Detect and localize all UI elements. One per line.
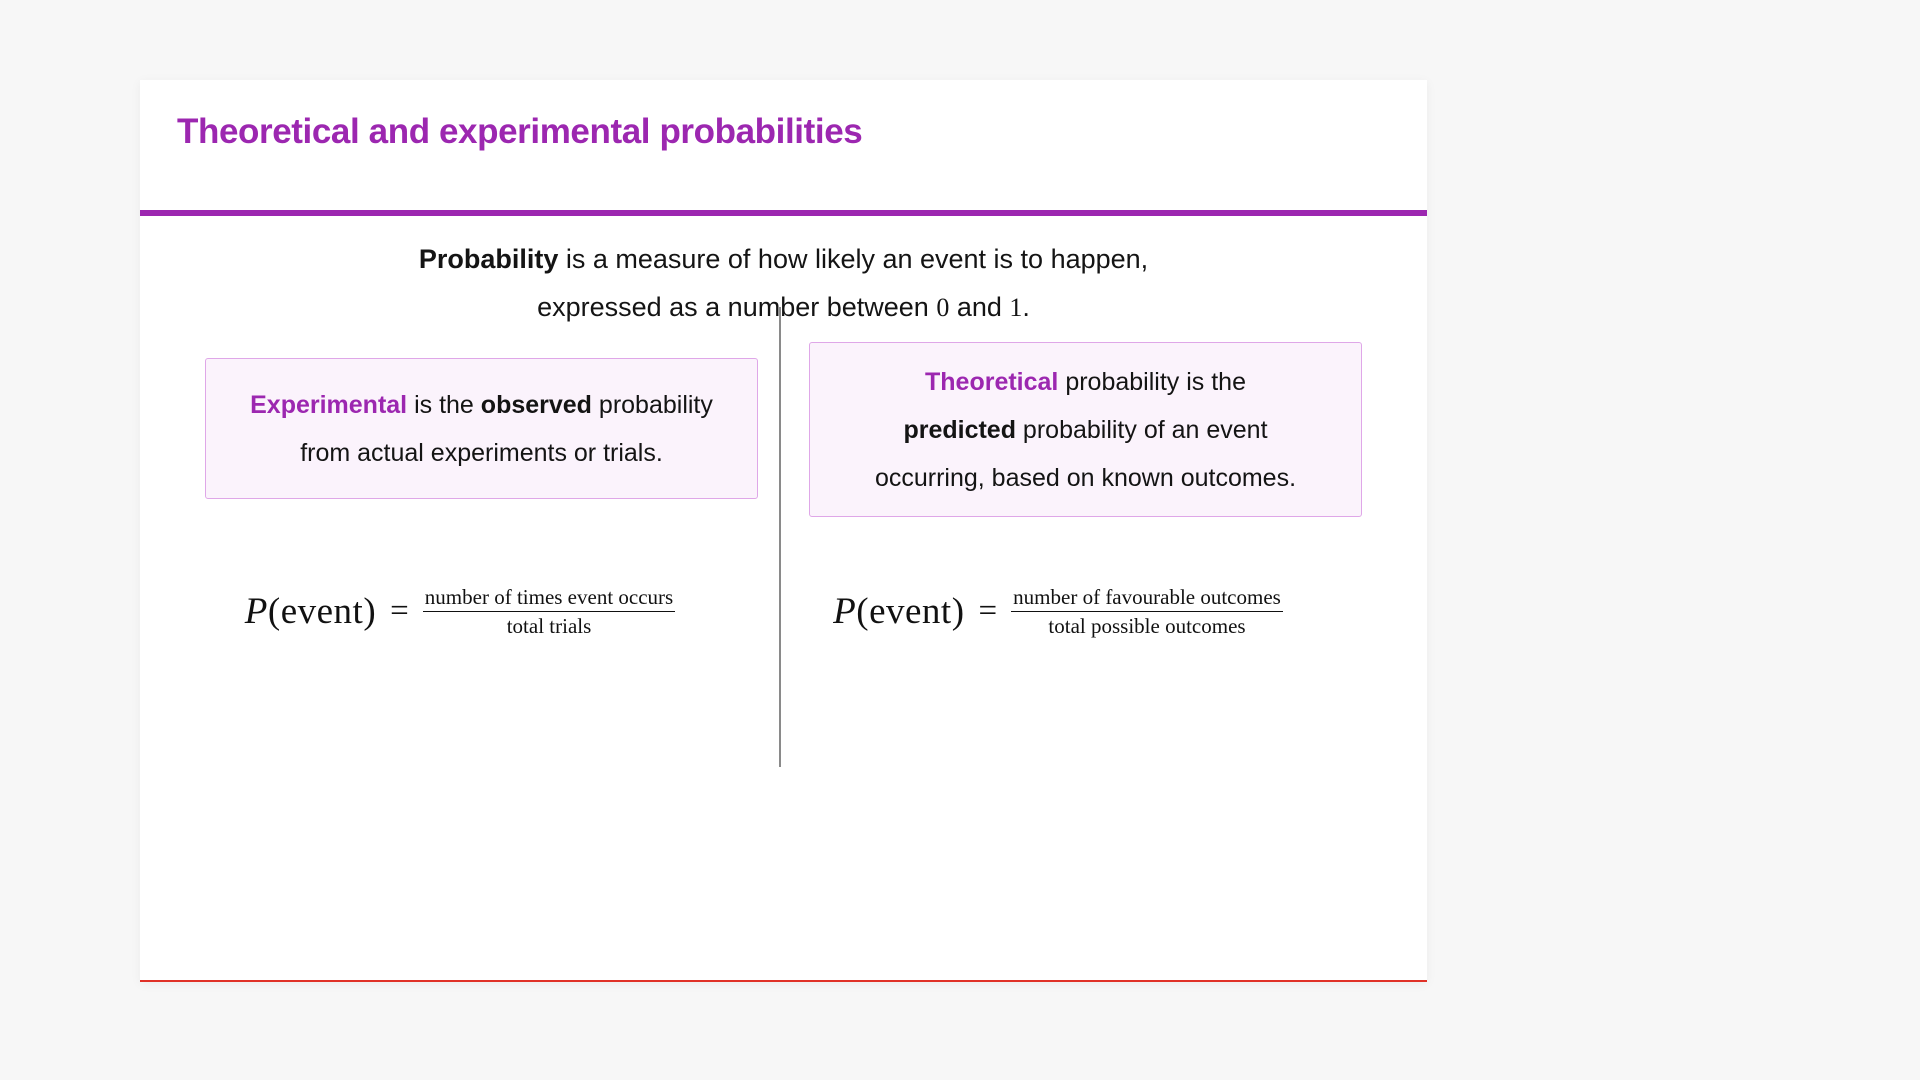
experimental-formula-variable: P xyxy=(245,591,268,632)
intro-number-one: 1 xyxy=(1009,293,1022,322)
column-divider xyxy=(779,307,781,767)
theoretical-formula-lhs: P(event) xyxy=(833,590,964,633)
intro-line-2-prefix: expressed as a number between xyxy=(537,292,936,322)
page-title: Theoretical and experimental probabiliti… xyxy=(177,112,862,152)
experimental-formula-fraction: number of times event occurs total trial… xyxy=(423,585,675,639)
intro-line-1: Probability is a measure of how likely a… xyxy=(140,235,1427,283)
theoretical-line-2: predicted probability of an event xyxy=(810,406,1361,454)
theoretical-formula: P(event) = number of favourable outcomes… xyxy=(758,585,1358,639)
theoretical-formula-variable: P xyxy=(833,591,856,632)
card-header: Theoretical and experimental probabiliti… xyxy=(140,80,1427,213)
intro-bold-term: Probability xyxy=(419,244,559,274)
experimental-formula-numerator: number of times event occurs xyxy=(423,585,675,612)
intro-line-2: expressed as a number between 0 and 1. xyxy=(140,283,1427,332)
theoretical-line-1: Theoretical probability is the xyxy=(810,358,1361,406)
theoretical-formula-argument: (event) xyxy=(856,591,964,632)
experimental-formula-equals: = xyxy=(390,593,409,630)
experimental-definition-box: Experimental is the observed probability… xyxy=(205,358,758,499)
theoretical-line-1-end: probability is the xyxy=(1058,368,1246,396)
intro-paragraph: Probability is a measure of how likely a… xyxy=(140,235,1427,332)
slide-card: Theoretical and experimental probabiliti… xyxy=(140,80,1427,982)
intro-line-2-suffix: . xyxy=(1022,292,1030,322)
theoretical-accent-word: Theoretical xyxy=(925,368,1058,396)
theoretical-formula-numerator: number of favourable outcomes xyxy=(1011,585,1283,612)
experimental-line-1-end: probability xyxy=(592,391,713,419)
theoretical-bold-word: predicted xyxy=(903,416,1016,444)
experimental-formula-lhs: P(event) xyxy=(245,590,376,633)
theoretical-definition-box: Theoretical probability is the predicted… xyxy=(809,342,1362,517)
theoretical-formula-fraction: number of favourable outcomes total poss… xyxy=(1011,585,1283,639)
intro-line-2-mid: and xyxy=(949,292,1009,322)
intro-line-1-rest: is a measure of how likely an event is t… xyxy=(558,244,1148,274)
experimental-formula-argument: (event) xyxy=(268,591,376,632)
theoretical-formula-denominator: total possible outcomes xyxy=(1011,612,1283,639)
header-divider-rule xyxy=(140,210,1427,216)
experimental-line-1: Experimental is the observed probability xyxy=(206,381,757,429)
experimental-bold-word: observed xyxy=(481,391,592,419)
experimental-line-2: from actual experiments or trials. xyxy=(206,429,757,477)
theoretical-line-2-end: probability of an event xyxy=(1016,416,1268,444)
intro-number-zero: 0 xyxy=(936,293,949,322)
experimental-formula-denominator: total trials xyxy=(423,612,675,639)
experimental-accent-word: Experimental xyxy=(250,391,407,419)
experimental-line-1-mid: is the xyxy=(407,391,481,419)
experimental-formula: P(event) = number of times event occurs … xyxy=(160,585,760,639)
theoretical-line-3: occurring, based on known outcomes. xyxy=(810,454,1361,502)
theoretical-formula-equals: = xyxy=(979,593,998,630)
